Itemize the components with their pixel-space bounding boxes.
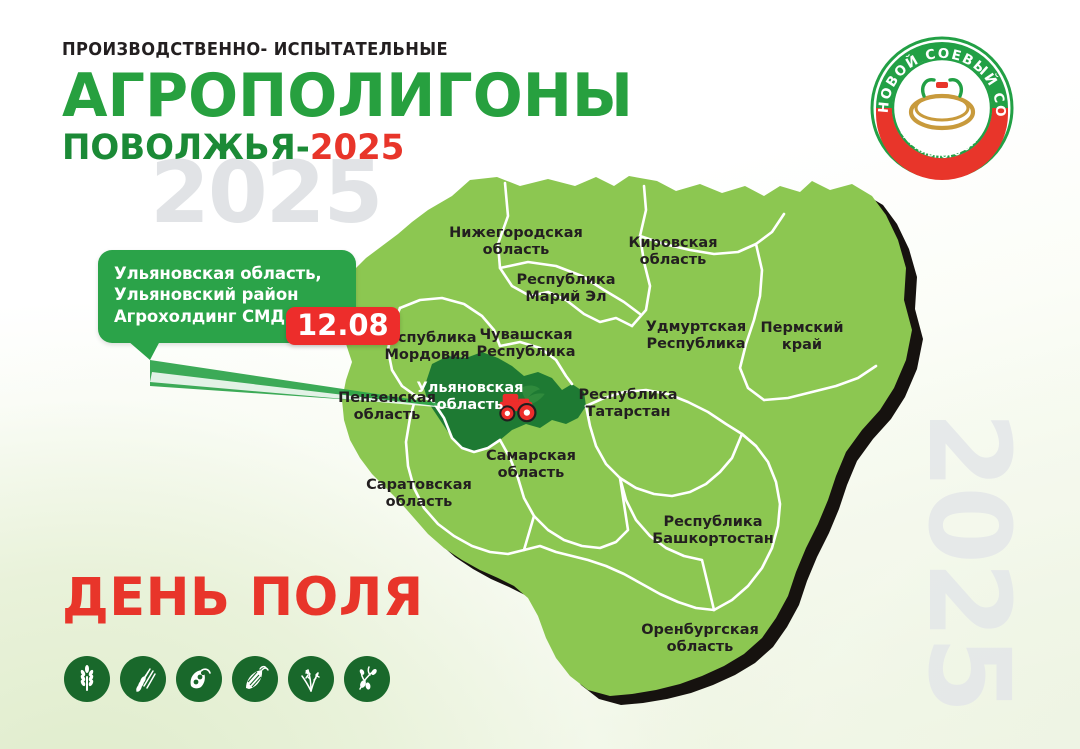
poster-root: 2025 2025 bbox=[0, 0, 1080, 749]
svg-text:Республика: Республика bbox=[476, 344, 575, 360]
svg-text:область: область bbox=[483, 242, 550, 258]
svg-text:Самарская: Самарская bbox=[486, 448, 576, 464]
header-kicker: ПРОИЗВОДСТВЕННО- ИСПЫТАТЕЛЬНЫЕ bbox=[62, 42, 604, 60]
svg-text:Удмуртская: Удмуртская bbox=[646, 319, 747, 335]
callout-line-district: Ульяновский район bbox=[114, 284, 340, 305]
map-label-bashkortostan[interactable]: Республика Башкортостан bbox=[652, 514, 774, 547]
logo-svg: ЗЕРНОВОЙ СОЕВЫЙ СОЮЗ ПРИВОЛЖСКОГО ФЕДЕРА… bbox=[868, 34, 1016, 182]
grass-icon[interactable] bbox=[288, 656, 334, 702]
svg-text:область: область bbox=[354, 407, 421, 423]
map-label-mariy-el[interactable]: Республика Марий Эл bbox=[516, 272, 615, 305]
svg-text:Республика: Республика bbox=[578, 387, 677, 403]
date-badge[interactable]: 12.08 bbox=[286, 307, 400, 345]
header-subtitle: ПОВОЛЖЬЯ-2025 bbox=[62, 131, 627, 166]
header-block: ПРОИЗВОДСТВЕННО- ИСПЫТАТЕЛЬНЫЕ АГРОПОЛИГ… bbox=[62, 42, 645, 166]
svg-text:Республика: Республика bbox=[646, 336, 745, 352]
svg-text:Саратовская: Саратовская bbox=[366, 477, 472, 493]
header-subtitle-dash: - bbox=[296, 128, 310, 168]
map-label-kirovskaya[interactable]: Кировская область bbox=[628, 235, 717, 268]
svg-text:Кировская: Кировская bbox=[628, 235, 717, 251]
svg-text:область: область bbox=[498, 465, 565, 481]
svg-text:Нижегородская: Нижегородская bbox=[449, 225, 583, 241]
legume-icon[interactable] bbox=[344, 656, 390, 702]
map-label-udmurtskaya[interactable]: Удмуртская Республика bbox=[646, 319, 747, 352]
crop-icon-row bbox=[64, 656, 390, 702]
logo-zernovoy-soevyy-soyuz[interactable]: ЗЕРНОВОЙ СОЕВЫЙ СОЮЗ ПРИВОЛЖСКОГО ФЕДЕРА… bbox=[868, 34, 1016, 182]
callout-tail bbox=[128, 341, 160, 360]
svg-text:Мордовия: Мордовия bbox=[384, 347, 469, 363]
page-title: АГРОПОЛИГОНЫ bbox=[62, 67, 633, 126]
map-label-tatarstan[interactable]: Республика Татарстан bbox=[578, 387, 677, 420]
svg-text:край: край bbox=[782, 337, 822, 353]
svg-text:Татарстан: Татарстан bbox=[585, 404, 670, 420]
svg-text:Пермский: Пермский bbox=[761, 320, 844, 336]
svg-text:область: область bbox=[386, 494, 453, 510]
svg-text:Республика: Республика bbox=[516, 272, 615, 288]
header-subtitle-year: 2025 bbox=[310, 128, 404, 168]
header-subtitle-region: ПОВОЛЖЬЯ bbox=[62, 128, 296, 168]
svg-text:Чувашская: Чувашская bbox=[479, 327, 572, 343]
svg-text:Пензенская: Пензенская bbox=[338, 390, 436, 406]
wheat-icon[interactable] bbox=[64, 656, 110, 702]
svg-text:Республика: Республика bbox=[663, 514, 762, 530]
svg-text:область: область bbox=[667, 639, 734, 655]
svg-text:Оренбургская: Оренбургская bbox=[641, 622, 759, 638]
day-of-field-title: ДЕНЬ ПОЛЯ bbox=[62, 571, 424, 624]
svg-text:область: область bbox=[437, 397, 504, 413]
callout-line-region: Ульяновская область, bbox=[114, 263, 340, 284]
barley-icon[interactable] bbox=[120, 656, 166, 702]
corn-icon[interactable] bbox=[232, 656, 278, 702]
soybean-pod-icon[interactable] bbox=[176, 656, 222, 702]
map-label-samarskaya[interactable]: Самарская область bbox=[486, 448, 576, 481]
svg-text:Башкортостан: Башкортостан bbox=[652, 531, 774, 547]
svg-text:область: область bbox=[640, 252, 707, 268]
svg-text:Марий Эл: Марий Эл bbox=[525, 289, 606, 305]
map-label-chuvashskaya[interactable]: Чувашская Республика bbox=[476, 327, 575, 360]
